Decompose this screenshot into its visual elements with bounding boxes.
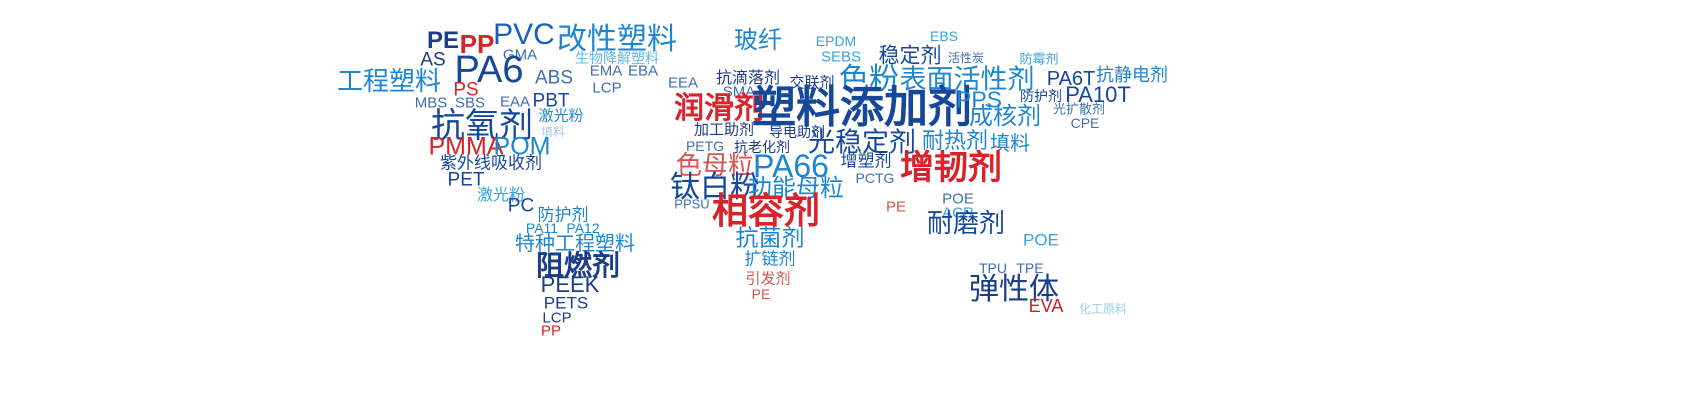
word-cloud-term[interactable]: PCTG bbox=[856, 171, 895, 185]
word-cloud-term[interactable]: 成核剂 bbox=[969, 104, 1041, 128]
word-cloud-term[interactable]: 增塑剂 bbox=[841, 154, 892, 171]
word-cloud-term[interactable]: POE bbox=[1023, 232, 1059, 249]
word-cloud-term[interactable]: PE bbox=[886, 200, 906, 215]
word-cloud-term[interactable]: 激光粉 bbox=[538, 109, 583, 124]
word-cloud-term[interactable]: EPDM bbox=[816, 34, 856, 48]
word-cloud-term[interactable]: 增韧剂 bbox=[900, 151, 1002, 185]
word-cloud-term[interactable]: PP bbox=[541, 324, 561, 339]
word-cloud-term[interactable]: LCP bbox=[592, 81, 621, 96]
word-cloud-term[interactable]: PC bbox=[508, 197, 534, 216]
word-cloud-term[interactable]: EBS bbox=[930, 29, 958, 43]
word-cloud-term[interactable]: CPE bbox=[1071, 116, 1100, 130]
word-cloud-term[interactable]: PE bbox=[752, 287, 771, 301]
word-cloud-term[interactable]: 抗菌剂 bbox=[736, 228, 805, 251]
word-cloud-term[interactable]: 塑料添加剂 bbox=[752, 86, 972, 130]
word-cloud-term[interactable]: 加工助剂 bbox=[694, 123, 754, 138]
word-cloud-term[interactable]: PVC bbox=[493, 20, 555, 50]
word-cloud-canvas: PEPPPVCGMA改性塑料生物降解塑料玻纤EPDMEBSASPA6ABSEMA… bbox=[0, 0, 1707, 400]
word-cloud-term[interactable]: ABS bbox=[535, 69, 573, 88]
word-cloud-term[interactable]: 活性炭 bbox=[948, 52, 984, 64]
word-cloud-term[interactable]: EVA bbox=[1029, 297, 1064, 315]
word-cloud-term[interactable]: 化工原料 bbox=[1079, 303, 1127, 315]
word-cloud-term[interactable]: 扩链剂 bbox=[745, 252, 796, 269]
word-cloud-term[interactable]: EMA bbox=[590, 64, 623, 79]
word-cloud-term[interactable]: 耐磨剂 bbox=[927, 211, 1005, 237]
word-cloud-term[interactable]: 玻纤 bbox=[734, 28, 782, 52]
word-cloud-term[interactable]: EEA bbox=[668, 76, 698, 91]
word-cloud-term[interactable]: EBA bbox=[628, 64, 658, 79]
word-cloud-term[interactable]: PPSU bbox=[674, 198, 709, 211]
word-cloud-term[interactable]: 工程塑料 bbox=[337, 69, 441, 95]
word-cloud-term[interactable]: 润滑剂 bbox=[674, 94, 764, 124]
word-cloud-term[interactable]: 引发剂 bbox=[745, 272, 790, 287]
